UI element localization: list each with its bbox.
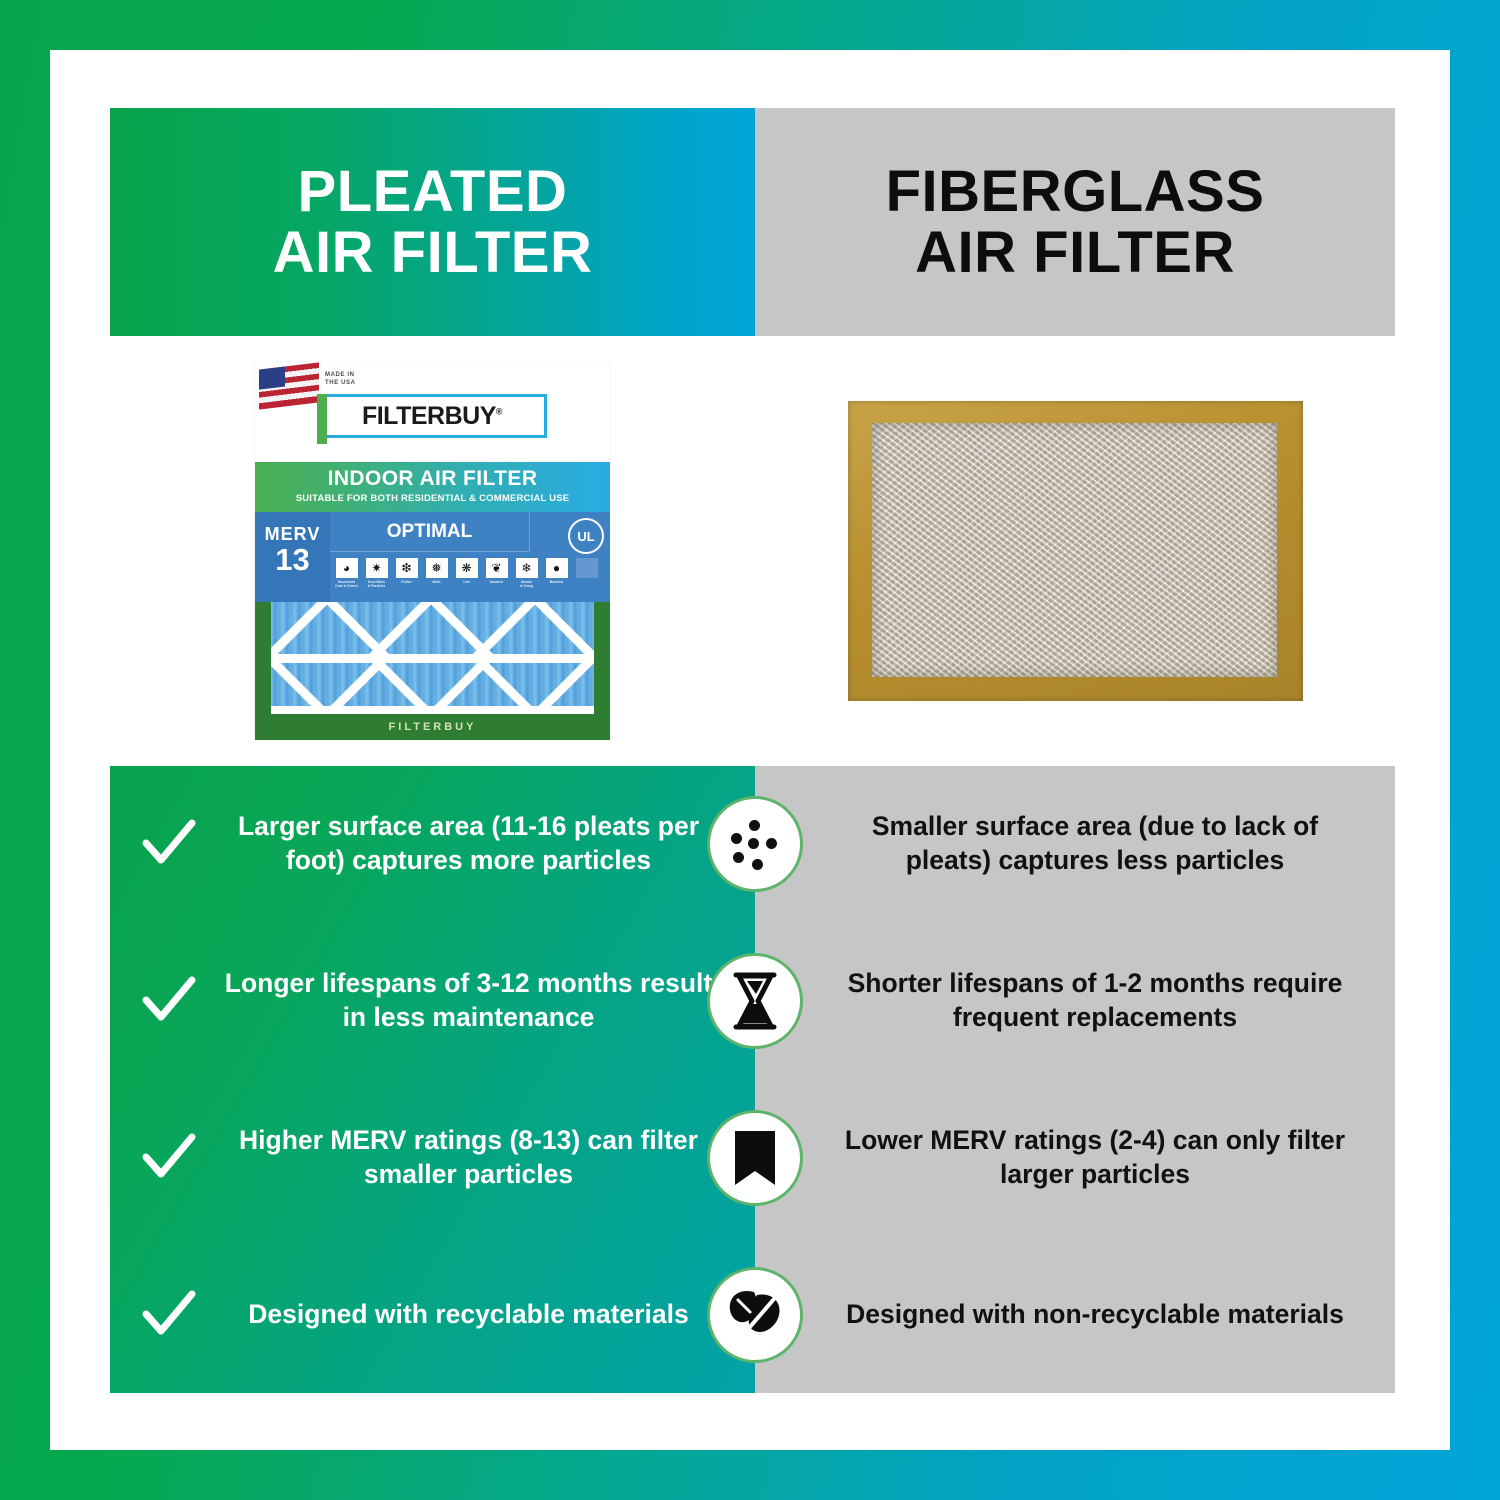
comparison-row: Designed with recyclable materials Desig… [110,1236,1395,1393]
feature-icon-chip: ◕HouseholdDust & Debris [333,558,360,589]
bookmark-icon [707,1110,803,1206]
comparison-text-pleated: Larger surface area (11-16 pleats per fo… [216,810,721,878]
header-fiberglass: FIBERGLASS AIR FILTER [755,108,1395,336]
comparison-text-fiberglass: Designed with non-recyclable materials [841,1298,1349,1332]
comparison-cell-fiberglass: Lower MERV ratings (2-4) can only filter… [755,1124,1395,1192]
feature-icon-chip: ●Bacteria [543,558,570,584]
merv-rating-block: MERV 13 [255,512,330,602]
tier-label: OPTIMAL [330,512,530,552]
feature-icon-caption: Dust Mites& Particles [363,580,390,589]
product-image-band: MADE INTHE USA FILTERBUY® INDOOR AIR FIL… [110,336,1395,766]
feature-icon-chip: ❅Mold [423,558,450,584]
filterbuy-logo: FILTERBUY® [317,394,547,438]
feature-icon-chip: ✷Dust Mites& Particles [363,558,390,589]
feature-icon-chip: ❦Danders [483,558,510,584]
checkmark-icon [140,1286,198,1344]
comparison-text-fiberglass: Shorter lifespans of 1-2 months require … [841,967,1349,1035]
feature-icon-caption: Mold [423,580,450,584]
pollen-icon: ❇ [396,558,418,578]
comparison-cell-fiberglass: Designed with non-recyclable materials [755,1298,1395,1332]
feature-icon-caption: Danders [483,580,510,584]
feature-icon-chip: ❇Pollen [393,558,420,584]
header-pleated-line2: AIR FILTER [273,220,593,285]
pleated-filter-product-image: MADE INTHE USA FILTERBUY® INDOOR AIR FIL… [255,362,610,740]
filterbuy-logo-text: FILTERBUY® [362,402,502,431]
household-dust-icon: ◕ [336,558,358,578]
hourglass-icon [707,953,803,1049]
indoor-air-filter-title: INDOOR AIR FILTER [255,467,610,491]
pleat-support-bar [271,654,594,663]
feature-icon-caption: Pollen [393,580,420,584]
comparison-cell-pleated: Designed with recyclable materials [110,1286,755,1344]
feature-icon-caption: HouseholdDust & Debris [333,580,360,589]
danders-icon: ❦ [486,558,508,578]
comparison-text-fiberglass: Lower MERV ratings (2-4) can only filter… [841,1124,1349,1192]
box-top-section: MADE INTHE USA FILTERBUY® [255,362,610,462]
feature-icon-chip: ❄Smoke& Smog [513,558,540,589]
infographic-page: PLEATED AIR FILTER FIBERGLASS AIR FILTER [50,50,1450,1450]
comparison-cell-pleated: Larger surface area (11-16 pleats per fo… [110,810,755,878]
fiberglass-cardboard-frame [848,401,1303,701]
ul-certification-icon: UL [568,518,604,554]
feature-icon-row: ◕HouseholdDust & Debris ✷Dust Mites& Par… [333,556,605,600]
comparison-text-pleated: Higher MERV ratings (8-13) can filter sm… [216,1124,721,1192]
feature-icon-chip-disabled [573,558,600,580]
comparison-cell-pleated: Higher MERV ratings (8-13) can filter sm… [110,1124,755,1192]
indoor-air-filter-band: INDOOR AIR FILTER SUITABLE FOR BOTH RESI… [255,462,610,512]
comparison-cell-pleated: Longer lifespans of 3-12 months result i… [110,967,755,1035]
fiberglass-media [872,423,1277,677]
dust-mites-icon: ✷ [366,558,388,578]
header-pleated: PLEATED AIR FILTER [110,108,755,336]
bacteria-icon: ● [546,558,568,578]
infographic-content: PLEATED AIR FILTER FIBERGLASS AIR FILTER [110,108,1395,1393]
checkmark-icon [140,1129,198,1187]
header-fiberglass-title: FIBERGLASS AIR FILTER [886,161,1265,284]
checkmark-icon [140,972,198,1030]
comparison-row: Longer lifespans of 3-12 months result i… [110,923,1395,1080]
usa-flag-icon [259,362,319,409]
particles-icon [707,796,803,892]
feature-icon-chip: ❋Lint [453,558,480,584]
pleated-filter-image-cell: MADE INTHE USA FILTERBUY® INDOOR AIR FIL… [110,336,755,766]
comparison-cell-fiberglass: Shorter lifespans of 1-2 months require … [755,967,1395,1035]
spec-band: MERV 13 OPTIMAL UL ◕HouseholdDust & Debr… [255,512,610,602]
smoke-smog-icon: ❄ [516,558,538,578]
comparison-cell-fiberglass: Smaller surface area (due to lack of ple… [755,810,1395,878]
made-in-usa-label: MADE INTHE USA [325,371,356,387]
fiberglass-filter-product-image [848,401,1303,701]
particles-glyph [727,816,783,872]
header-band: PLEATED AIR FILTER FIBERGLASS AIR FILTER [110,108,1395,336]
leaf-icon [707,1267,803,1363]
comparison-rows: Larger surface area (11-16 pleats per fo… [110,766,1395,1393]
lint-icon: ❋ [456,558,478,578]
fiberglass-filter-image-cell [755,336,1395,766]
comparison-text-pleated: Designed with recyclable materials [216,1298,721,1332]
filter-footer-brand: FILTERBUY [255,714,610,740]
feature-icon-caption: Lint [453,580,480,584]
header-pleated-title: PLEATED AIR FILTER [273,161,593,284]
virus-icon-disabled [576,558,598,578]
header-pleated-line1: PLEATED [298,159,568,224]
feature-icon-caption: Bacteria [543,580,570,584]
comparison-band: Larger surface area (11-16 pleats per fo… [110,766,1395,1393]
pleated-media-artwork: FILTERBUY [255,602,610,740]
comparison-text-fiberglass: Smaller surface area (due to lack of ple… [841,810,1349,878]
checkmark-icon [140,815,198,873]
comparison-text-pleated: Longer lifespans of 3-12 months result i… [216,967,721,1035]
mold-icon: ❅ [426,558,448,578]
header-fiberglass-line1: FIBERGLASS [886,159,1265,224]
header-fiberglass-line2: AIR FILTER [915,220,1235,285]
indoor-air-filter-subtitle: SUITABLE FOR BOTH RESIDENTIAL & COMMERCI… [255,493,610,504]
feature-icon-caption: Smoke& Smog [513,580,540,589]
merv-value: 13 [255,545,330,574]
comparison-row: Larger surface area (11-16 pleats per fo… [110,766,1395,923]
comparison-row: Higher MERV ratings (8-13) can filter sm… [110,1080,1395,1237]
